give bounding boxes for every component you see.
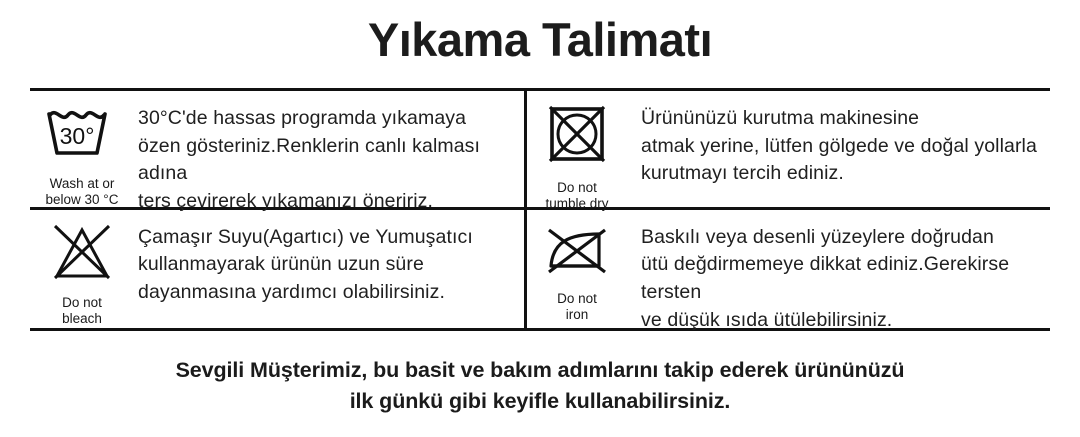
icon-block-bleach: Do not bleach <box>30 210 134 328</box>
icon-block-iron: Do not iron <box>527 210 627 324</box>
icon-caption: Do not iron <box>557 291 597 324</box>
table-row: 30° Wash at or below 30 °C 30°C'de hassa… <box>30 91 1050 210</box>
care-cell-tumble-dry: Do not tumble dry Ürününüzü kurutma maki… <box>524 91 1050 207</box>
wash-tub-30-icon: 30° <box>43 103 121 170</box>
svg-text:30°: 30° <box>60 123 95 149</box>
care-description: Baskılı veya desenli yüzeylere doğrudan … <box>627 210 1050 335</box>
care-cell-bleach: Do not bleach Çamaşır Suyu(Agartıcı) ve … <box>30 210 524 329</box>
do-not-iron-icon <box>543 222 611 285</box>
do-not-tumble-dry-icon <box>544 103 610 174</box>
care-cell-iron: Do not iron Baskılı veya desenli yüzeyle… <box>524 210 1050 329</box>
icon-caption: Do not tumble dry <box>545 180 608 213</box>
care-instructions-table: 30° Wash at or below 30 °C 30°C'de hassa… <box>30 88 1050 331</box>
table-row: Do not bleach Çamaşır Suyu(Agartıcı) ve … <box>30 210 1050 329</box>
care-description: Ürününüzü kurutma makinesine atmak yerin… <box>627 91 1045 188</box>
page-title: Yıkama Talimatı <box>0 12 1080 68</box>
footer-message: Sevgili Müşterimiz, bu basit ve bakım ad… <box>0 355 1080 416</box>
icon-caption: Do not bleach <box>62 295 102 328</box>
care-description: 30°C'de hassas programda yıkamaya özen g… <box>134 91 524 216</box>
icon-caption: Wash at or below 30 °C <box>46 176 119 209</box>
care-label-page: Yıkama Talimatı 30° Wash at or below 30 … <box>0 0 1080 437</box>
icon-block-wash: 30° Wash at or below 30 °C <box>30 91 134 209</box>
do-not-bleach-icon <box>47 222 117 289</box>
icon-block-tumble-dry: Do not tumble dry <box>527 91 627 213</box>
care-cell-wash: 30° Wash at or below 30 °C 30°C'de hassa… <box>30 91 524 207</box>
care-description: Çamaşır Suyu(Agartıcı) ve Yumuşatıcı kul… <box>134 210 483 307</box>
